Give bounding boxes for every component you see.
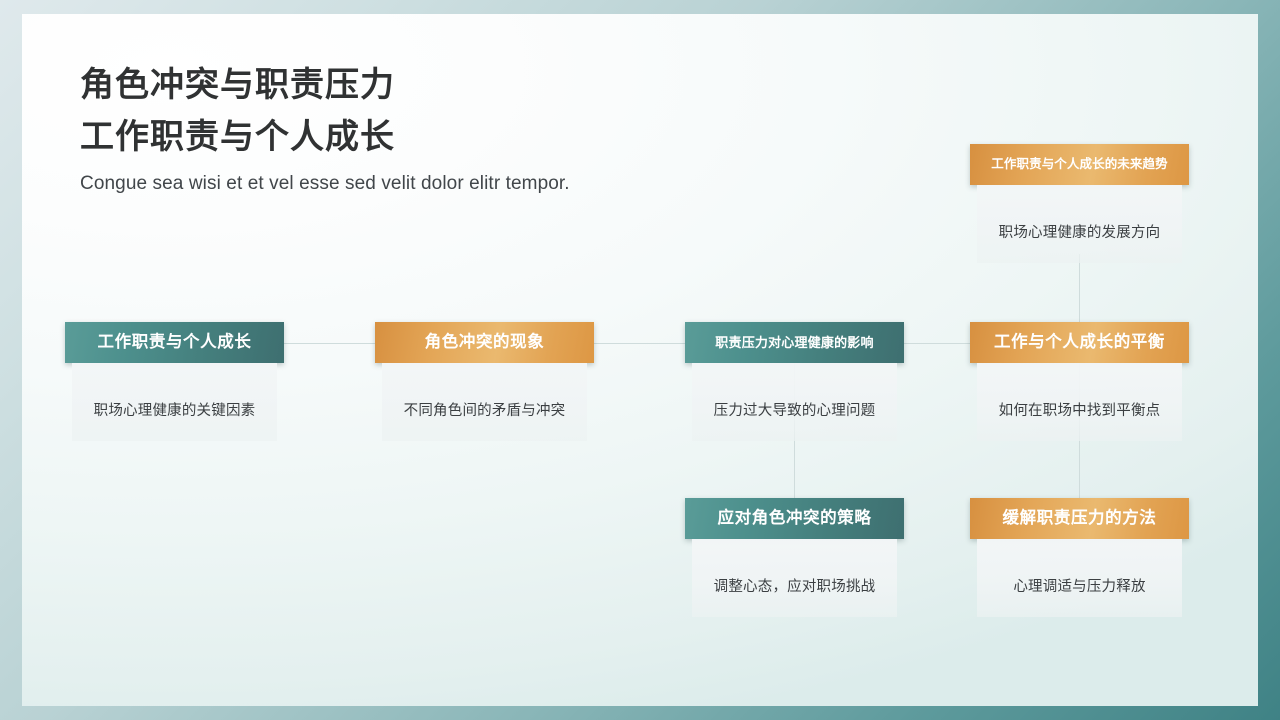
- card-work-duty-growth[interactable]: 工作职责与个人成长 职场心理健康的关键因素: [65, 322, 284, 441]
- card-duty-stress-impact-header: 职责压力对心理健康的影响: [685, 322, 904, 363]
- page-title-line-2: 工作职责与个人成长: [80, 112, 570, 164]
- card-role-conflict-strategy-header: 应对角色冲突的策略: [685, 498, 904, 539]
- card-future-trend-body: 职场心理健康的发展方向: [977, 185, 1182, 263]
- title-block: 角色冲突与职责压力 工作职责与个人成长 Congue sea wisi et e…: [80, 60, 570, 195]
- card-work-growth-balance-desc: 如何在职场中找到平衡点: [999, 399, 1161, 420]
- card-stress-relief-method-header: 缓解职责压力的方法: [970, 498, 1189, 539]
- page-subtitle: Congue sea wisi et et vel esse sed velit…: [80, 173, 570, 195]
- page-title-line-1: 角色冲突与职责压力: [80, 60, 570, 112]
- card-work-duty-growth-desc: 职场心理健康的关键因素: [94, 399, 256, 420]
- card-role-conflict-strategy-body: 调整心态，应对职场挑战: [692, 539, 897, 617]
- card-stress-relief-method-desc: 心理调适与压力释放: [1013, 575, 1145, 596]
- card-role-conflict-phenomenon-desc: 不同角色间的矛盾与冲突: [404, 399, 566, 420]
- card-role-conflict-strategy-desc: 调整心态，应对职场挑战: [714, 575, 876, 596]
- card-work-duty-growth-header: 工作职责与个人成长: [65, 322, 284, 363]
- slide-frame: 角色冲突与职责压力 工作职责与个人成长 Congue sea wisi et e…: [0, 0, 1280, 720]
- card-role-conflict-phenomenon[interactable]: 角色冲突的现象 不同角色间的矛盾与冲突: [375, 322, 594, 441]
- card-future-trend[interactable]: 工作职责与个人成长的未来趋势 职场心理健康的发展方向: [970, 144, 1189, 263]
- card-role-conflict-strategy[interactable]: 应对角色冲突的策略 调整心态，应对职场挑战: [685, 498, 904, 617]
- card-future-trend-desc: 职场心理健康的发展方向: [999, 221, 1161, 242]
- card-work-duty-growth-body: 职场心理健康的关键因素: [72, 363, 277, 441]
- card-duty-stress-impact[interactable]: 职责压力对心理健康的影响 压力过大导致的心理问题: [685, 322, 904, 441]
- card-work-growth-balance-header: 工作与个人成长的平衡: [970, 322, 1189, 363]
- card-future-trend-header: 工作职责与个人成长的未来趋势: [970, 144, 1189, 185]
- card-work-growth-balance-body: 如何在职场中找到平衡点: [977, 363, 1182, 441]
- card-stress-relief-method-body: 心理调适与压力释放: [977, 539, 1182, 617]
- card-work-growth-balance[interactable]: 工作与个人成长的平衡 如何在职场中找到平衡点: [970, 322, 1189, 441]
- slide-canvas: 角色冲突与职责压力 工作职责与个人成长 Congue sea wisi et e…: [22, 14, 1258, 706]
- card-role-conflict-phenomenon-body: 不同角色间的矛盾与冲突: [382, 363, 587, 441]
- card-duty-stress-impact-body: 压力过大导致的心理问题: [692, 363, 897, 441]
- card-role-conflict-phenomenon-header: 角色冲突的现象: [375, 322, 594, 363]
- card-stress-relief-method[interactable]: 缓解职责压力的方法 心理调适与压力释放: [970, 498, 1189, 617]
- card-duty-stress-impact-desc: 压力过大导致的心理问题: [714, 399, 876, 420]
